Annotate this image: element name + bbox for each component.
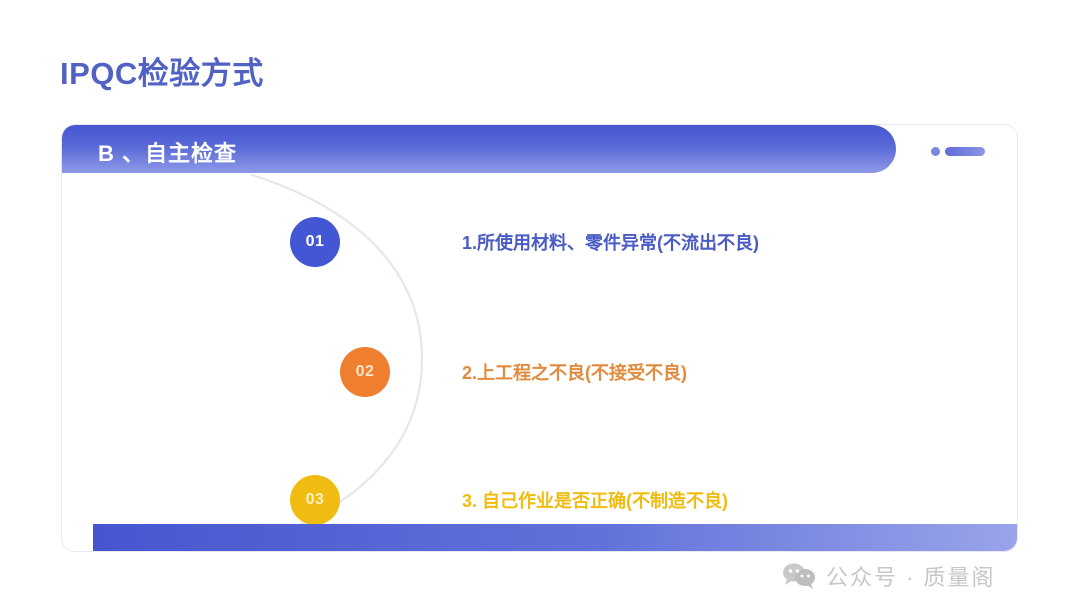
content-card: B 、自主检查 01 1.所使用材料、零件异常(不流出不良) 02 2.上工程之… [61, 124, 1018, 552]
step-item-02[interactable]: 02 2.上工程之不良(不接受不良) [340, 347, 687, 397]
card-footer-bar [93, 524, 1018, 551]
step-label-01: 1.所使用材料、零件异常(不流出不良) [462, 229, 759, 255]
step-item-01[interactable]: 01 1.所使用材料、零件异常(不流出不良) [290, 217, 759, 267]
wechat-icon [782, 562, 816, 590]
card-header-title: B 、自主检查 [98, 136, 237, 168]
step-label-02: 2.上工程之不良(不接受不良) [462, 359, 687, 385]
step-label-03: 3. 自己作业是否正确(不制造不良) [462, 487, 728, 513]
step-item-03[interactable]: 03 3. 自己作业是否正确(不制造不良) [290, 475, 728, 525]
page-title: IPQC检验方式 [60, 48, 264, 93]
header-indicator [931, 147, 985, 156]
step-badge-01[interactable]: 01 [290, 217, 340, 267]
watermark-text: 公众号 · 质量阁 [826, 560, 996, 592]
card-header-bar: B 、自主检查 [62, 125, 896, 173]
watermark: 公众号 · 质量阁 [782, 560, 996, 592]
indicator-dot-icon [931, 147, 940, 156]
step-badge-03[interactable]: 03 [290, 475, 340, 525]
step-badge-02[interactable]: 02 [340, 347, 390, 397]
indicator-pill-icon [945, 147, 985, 156]
